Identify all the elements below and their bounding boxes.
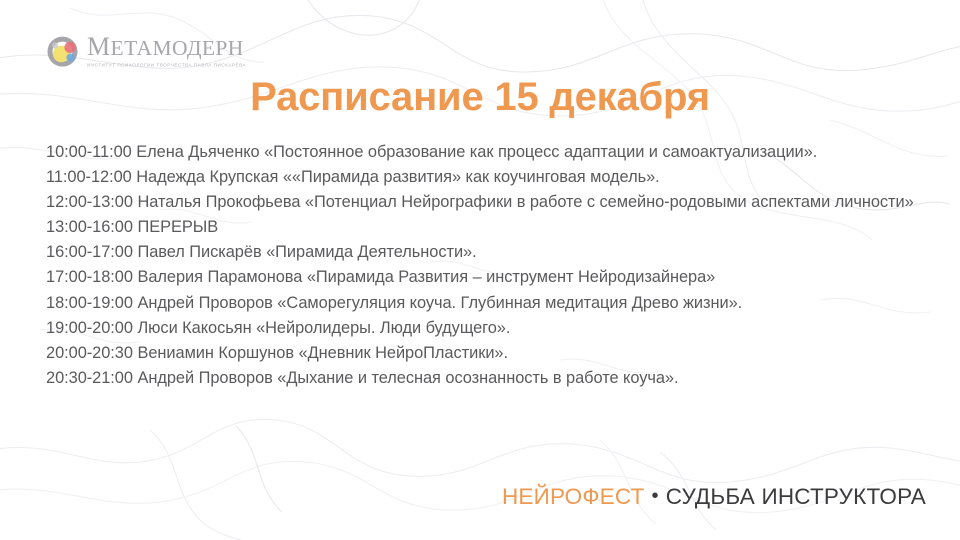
schedule-entry: 18:00-19:00 Андрей Проворов «Саморегуляц… <box>46 291 921 316</box>
schedule-entry-description: Андрей Проворов «Саморегуляция коуча. Гл… <box>137 294 742 312</box>
schedule-entry: 17:00-18:00 Валерия Парамонова «Пирамида… <box>46 265 921 290</box>
schedule-entry-time: 11:00-12:00 <box>46 168 132 186</box>
schedule-entry-time: 16:00-17:00 <box>46 243 133 261</box>
schedule-entry-time: 18:00-19:00 <box>46 294 133 312</box>
schedule-entry-description: Елена Дьяченко «Постоянное образование к… <box>136 143 817 161</box>
slide-canvas: Метамодерн Институт Психологии Творчеств… <box>0 0 960 540</box>
schedule-list: 10:00-11:00 Елена Дьяченко «Постоянное о… <box>46 140 921 391</box>
schedule-entry: 12:00-13:00 Наталья Прокофьева «Потенциа… <box>46 190 921 215</box>
schedule-entry-description: Андрей Проворов «Дыхание и телесная осоз… <box>137 369 678 387</box>
schedule-entry: 11:00-12:00 Надежда Крупская ««Пирамида … <box>46 165 921 190</box>
schedule-entry: 13:00-16:00 ПЕРЕРЫВ <box>46 215 921 240</box>
schedule-entry-time: 20:30-21:00 <box>46 369 133 387</box>
schedule-entry-description: Наталья Прокофьева «Потенциал Нейрографи… <box>137 193 913 211</box>
logo-wordmark-initial: М <box>87 32 111 61</box>
schedule-entry-description: Люси Какосьян «Нейролидеры. Люди будущег… <box>137 319 510 337</box>
schedule-entry-time: 10:00-11:00 <box>46 143 132 161</box>
footer-tagline: СУДЬБА ИНСТРУКТОРА <box>666 484 926 510</box>
footer: НЕЙРОФЕСТ • СУДЬБА ИНСТРУКТОРА <box>502 484 926 510</box>
schedule-entry: 16:00-17:00 Павел Пискарёв «Пирамида Дея… <box>46 240 921 265</box>
schedule-entry-description: Валерия Парамонова «Пирамида Развития – … <box>137 268 715 286</box>
schedule-entry: 20:00-20:30 Вениамин Коршунов «Дневник Н… <box>46 341 921 366</box>
footer-brand: НЕЙРОФЕСТ <box>502 484 645 510</box>
footer-bullet-separator: • <box>652 486 659 506</box>
brand-logo[interactable]: Метамодерн Институт Психологии Творчеств… <box>46 33 246 69</box>
page-title: Расписание 15 декабря <box>0 74 960 120</box>
schedule-entry-time: 20:00-20:30 <box>46 344 133 362</box>
logo-subtitle: Институт Психологии Творчества Павла Пис… <box>87 62 246 67</box>
schedule-entry-time: 19:00-20:00 <box>46 319 133 337</box>
schedule-entry: 20:30-21:00 Андрей Проворов «Дыхание и т… <box>46 366 921 391</box>
schedule-entry: 10:00-11:00 Елена Дьяченко «Постоянное о… <box>46 140 921 165</box>
metamodern-circles-mark <box>46 35 80 69</box>
schedule-entry-description: ПЕРЕРЫВ <box>137 218 218 236</box>
schedule-entry-description: Надежда Крупская ««Пирамида развития» ка… <box>136 168 659 186</box>
schedule-entry-time: 12:00-13:00 <box>46 193 133 211</box>
logo-wordmark-rest: етамодерн <box>111 36 244 60</box>
logo-wordmark: Метамодерн <box>87 34 246 60</box>
schedule-entry: 19:00-20:00 Люси Какосьян «Нейролидеры. … <box>46 316 921 341</box>
schedule-entry-time: 13:00-16:00 <box>46 218 133 236</box>
schedule-entry-description: Вениамин Коршунов «Дневник НейроПластики… <box>137 344 508 362</box>
schedule-entry-time: 17:00-18:00 <box>46 268 133 286</box>
logo-text-block: Метамодерн Институт Психологии Творчеств… <box>87 33 246 67</box>
schedule-entry-description: Павел Пискарёв «Пирамида Деятельности». <box>137 243 476 261</box>
